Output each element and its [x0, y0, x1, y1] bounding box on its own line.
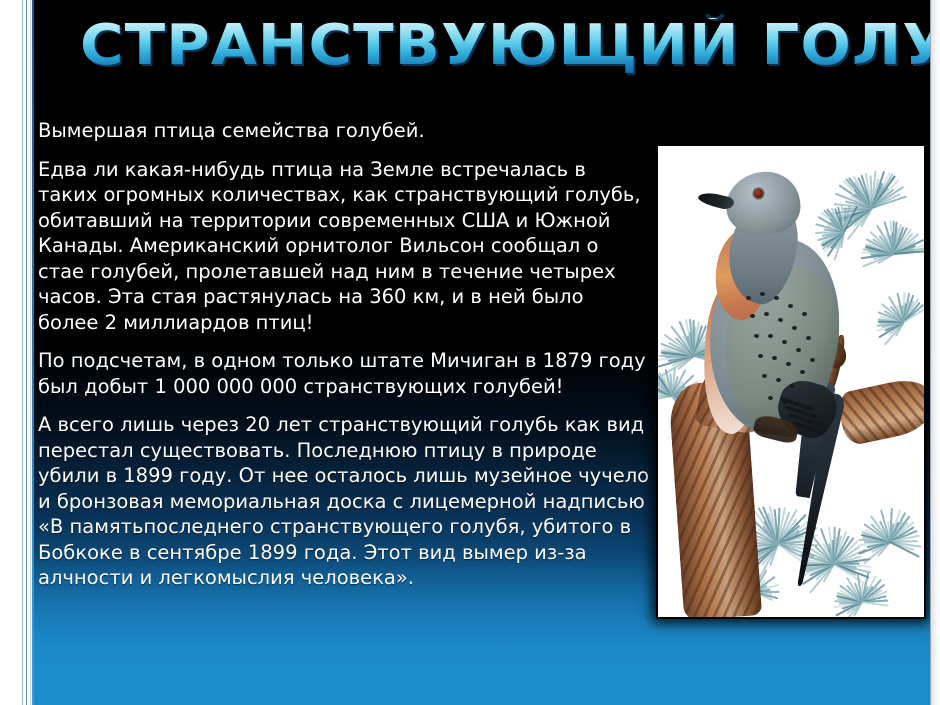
page-title: СТРАНСТВУЮЩИЙ ГОЛУБЬ — [80, 18, 940, 74]
bird-eye — [754, 189, 763, 198]
slide: СТРАНСТВУЮЩИЙ ГОЛУБЬ СТРАНСТВУЮЩИЙ ГОЛУБ… — [0, 0, 940, 705]
paragraph-4: А всего лишь через 20 лет странствующий … — [38, 412, 650, 591]
wing-spot — [796, 348, 801, 352]
left-rule-2 — [26, 0, 27, 705]
wing-spot — [754, 334, 759, 338]
wing-spot — [792, 326, 797, 330]
wing-spot — [800, 370, 805, 374]
wing-spot — [802, 312, 807, 316]
wing-spot — [750, 314, 755, 318]
wing-spot — [758, 354, 763, 358]
wing-spot — [776, 378, 781, 382]
right-border-decoration — [930, 0, 940, 705]
paragraph-1: Вымершая птица семейства голубей. — [38, 118, 650, 144]
wing-spot — [790, 384, 795, 388]
left-rule-accent — [32, 0, 34, 705]
wing-spot — [778, 318, 783, 322]
wing-spot — [772, 356, 777, 360]
paragraph-3: По подсчетам, в одном только штате Мичиг… — [38, 348, 650, 399]
body-text: Вымершая птица семейства голубей. Едва л… — [38, 118, 650, 591]
right-border-line — [930, 0, 931, 705]
wing-spot — [774, 296, 779, 300]
bird-illustration — [658, 146, 924, 617]
wing-spot — [768, 334, 773, 338]
wing-spot — [760, 292, 765, 296]
left-border-decoration — [0, 0, 34, 705]
wing-spot — [762, 374, 767, 378]
wing-spot — [806, 336, 811, 340]
left-rule-3 — [30, 0, 31, 705]
wing-spot — [764, 312, 769, 316]
paragraph-2: Едва ли какая-нибудь птица на Земле встр… — [38, 157, 650, 336]
wing-spot — [788, 304, 793, 308]
wing-spot — [768, 396, 773, 400]
wing-spot — [782, 340, 787, 344]
wing-spot — [786, 362, 791, 366]
passenger-pigeon — [658, 146, 924, 617]
wing-spot — [746, 296, 751, 300]
bird-image-frame — [658, 146, 924, 617]
wing-spot — [810, 358, 815, 362]
left-rule-1 — [22, 0, 23, 705]
